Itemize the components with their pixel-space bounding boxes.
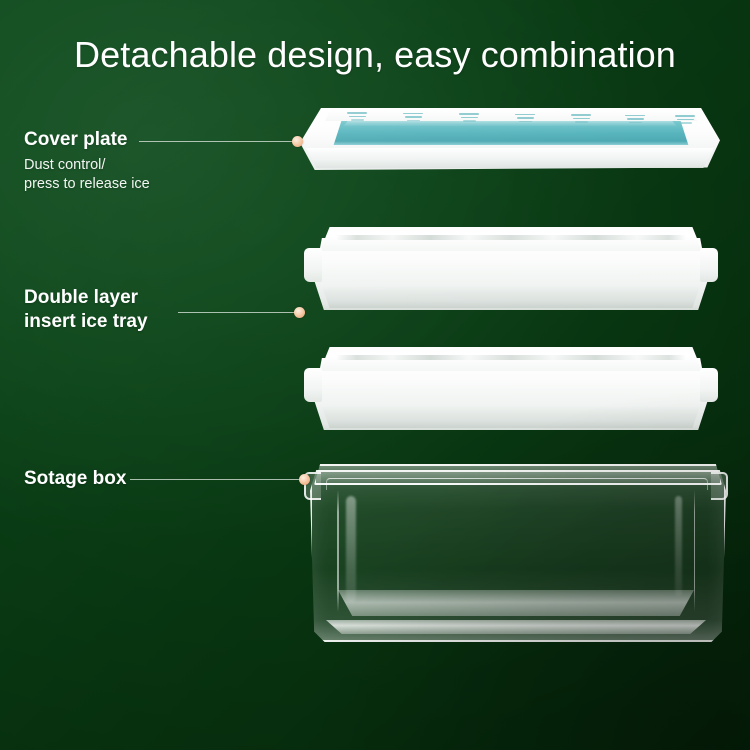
silicone-push-bump [568,113,594,126]
callout-cover-plate-subtitle-line1: Dust control/ [24,156,150,175]
product-ice-tray-upper [302,224,720,312]
leader-dot-cover-plate [292,136,303,147]
leader-line-ice-tray [178,312,298,313]
leader-line-storage-box [130,479,302,480]
storage-box-inner-rim [326,478,708,490]
callout-ice-tray-title-line2: insert ice tray [24,310,148,334]
callout-cover-plate: Cover plate Dust control/ press to relea… [24,128,150,194]
leader-dot-storage-box [299,474,310,485]
storage-box-body [310,470,726,642]
leader-line-cover-plate [139,141,294,142]
ice-tray-tab-right [700,368,718,402]
callout-storage-box-title: Sotage box [24,467,126,491]
silicone-push-bump [400,112,426,125]
silicone-push-bump [672,114,698,127]
ice-tray-front-shade [318,406,704,428]
product-infographic-poster: Detachable design, easy combination [0,0,750,750]
cover-plate-front-bevel [302,148,718,168]
leader-dot-ice-tray [294,307,305,318]
callout-cover-plate-title: Cover plate [24,128,150,152]
product-ice-tray-lower [302,344,720,432]
product-cover-plate [300,100,720,180]
storage-box-bottom-edge [318,620,714,634]
callout-storage-box: Sotage box [24,467,126,491]
ice-tray-front-shade [318,286,704,308]
page-title: Detachable design, easy combination [0,34,750,76]
product-storage-box [310,462,722,640]
ice-tray-tab-left [304,248,322,282]
silicone-push-bump [456,112,482,125]
ice-tray-ridge [336,235,686,240]
callout-cover-plate-subtitle-line2: press to release ice [24,175,150,194]
ice-tray-tab-right [700,248,718,282]
callout-ice-tray-title-line1: Double layer [24,286,148,310]
storage-box-gloss-right [675,496,682,596]
callout-ice-tray: Double layer insert ice tray [24,286,148,334]
silicone-push-bump [622,114,648,127]
ice-tray-tab-left [304,368,322,402]
silicone-push-bump [512,113,538,126]
storage-box-gloss-left [346,496,356,602]
storage-box-corner-edge-right [694,490,696,612]
ice-tray-ridge [336,355,686,360]
storage-box-tab-right [711,472,728,500]
silicone-push-bump [344,111,370,124]
storage-box-corner-edge-left [337,490,339,612]
storage-box-inner-floor [338,590,694,616]
